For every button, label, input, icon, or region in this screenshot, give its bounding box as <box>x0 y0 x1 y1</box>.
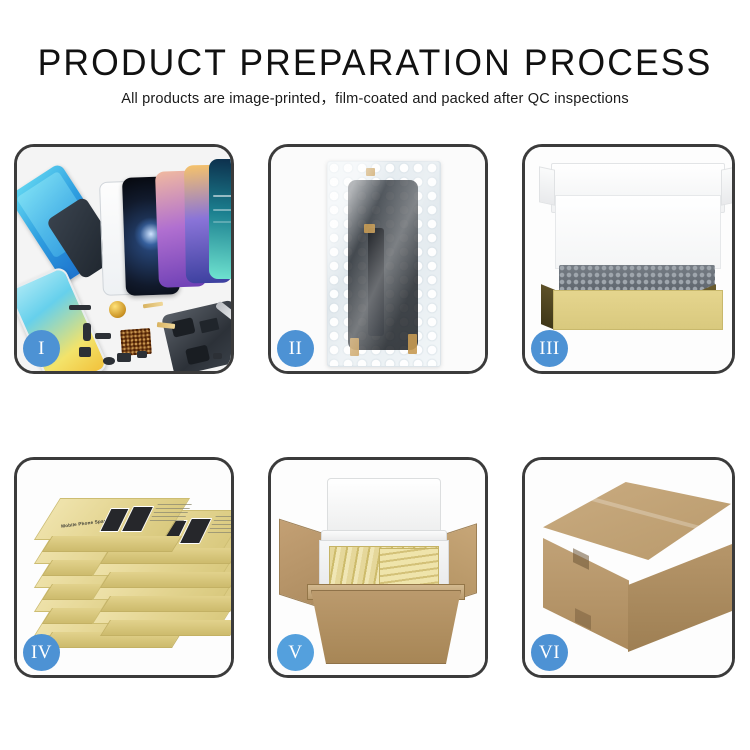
ic-chip-icon <box>120 328 152 356</box>
bubble-wrap-sheet-icon <box>327 161 441 367</box>
box-side-face <box>100 596 231 612</box>
process-step-card-1[interactable]: I <box>14 144 234 374</box>
sim-tray-icon <box>137 351 147 358</box>
step-badge-3: III <box>531 330 568 367</box>
step-badge-1: I <box>23 330 60 367</box>
step-badge-4: IV <box>23 634 60 671</box>
loose-screw-icon <box>213 353 222 359</box>
foam-lid-icon <box>327 478 441 538</box>
tape-tab-left-icon <box>350 338 359 356</box>
process-step-grid: I II <box>0 0 750 750</box>
tape-tab-right-icon <box>408 334 417 354</box>
flex-cable-icon <box>368 228 384 336</box>
tape-tab-mid-icon <box>364 224 375 233</box>
process-step-card-5[interactable]: V <box>268 457 488 678</box>
step-badge-5: V <box>277 634 314 671</box>
box-side-face <box>42 536 182 552</box>
packed-boxes-row-b-icon <box>379 548 439 586</box>
box-side-face <box>100 620 231 636</box>
carton-top-face-icon <box>543 482 731 560</box>
flex-cable-icon <box>143 302 163 309</box>
carton-body-icon <box>311 590 461 664</box>
box-back-panel-icon <box>555 195 721 269</box>
stacked-box-back-top: Mobile Phone Spare Parts <box>47 498 175 554</box>
step-badge-2: II <box>277 330 314 367</box>
gold-contact-icon <box>157 322 175 329</box>
battery-connector-icon <box>83 323 91 341</box>
screw-set-icon <box>103 357 115 365</box>
process-step-card-6[interactable]: VI <box>522 457 735 678</box>
box-side-face <box>100 572 231 588</box>
bracket-icon <box>95 333 111 339</box>
teal-phone-icon <box>209 159 231 279</box>
process-step-card-4[interactable]: Mobile Phone Spare Parts Mobile Phone Sp… <box>14 457 234 678</box>
box-front-panel-icon <box>553 290 723 330</box>
product-preparation-infographic: PRODUCT PREPARATION PROCESS All products… <box>0 0 750 750</box>
step-badge-6: VI <box>531 634 568 671</box>
speaker-module-icon <box>109 301 126 318</box>
grey-foam-padding-icon <box>559 265 715 293</box>
tape-tab-top-icon <box>366 168 375 176</box>
small-part-icon <box>69 305 91 310</box>
process-step-card-3[interactable]: III <box>522 144 735 374</box>
vibration-motor-icon <box>117 353 131 362</box>
carton-right-face-icon <box>628 544 732 652</box>
camera-module-icon <box>79 347 91 357</box>
process-step-card-2[interactable]: II <box>268 144 488 374</box>
